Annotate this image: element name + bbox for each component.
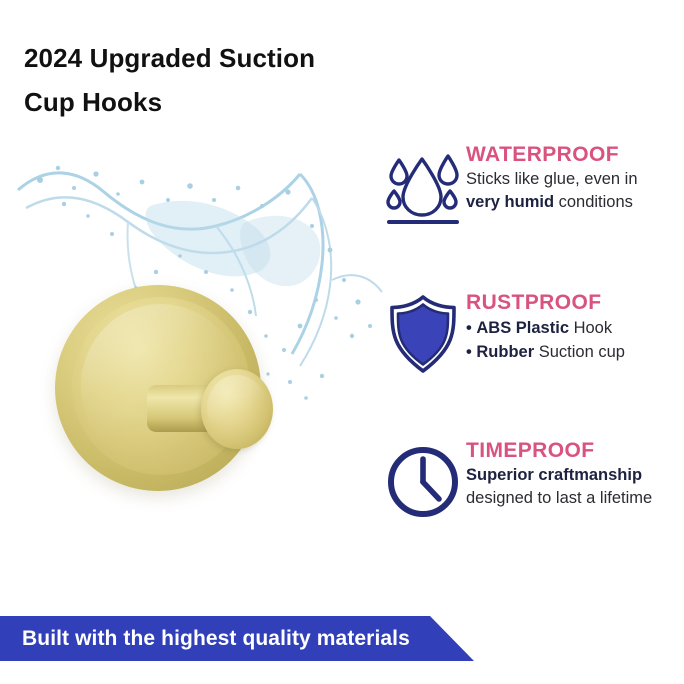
feature-waterproof-text: WATERPROOF Sticks like glue, even in ver… [466,142,684,214]
feature-rustproof: RUSTPROOF • ABS Plastic Hook • Rubber Su… [386,290,684,376]
feature-timeproof-text: TIMEPROOF Superior craftmanship designed… [466,438,684,510]
feature-rustproof-text: RUSTPROOF • ABS Plastic Hook • Rubber Su… [466,290,684,364]
product-photo-area [0,130,392,530]
feature-line: designed to last a lifetime [466,487,684,510]
title-line-1: 2024 Upgraded Suction [24,36,384,80]
feature-heading: TIMEPROOF [466,438,684,463]
feature-timeproof: TIMEPROOF Superior craftmanship designed… [386,438,684,524]
feature-line: Superior craftmanship [466,464,684,487]
bullet-text: Hook [569,319,612,337]
product-infographic: 2024 Upgraded Suction Cup Hooks [0,0,684,684]
feature-line: Sticks like glue, even in [466,168,684,191]
gold-suction-cup-hook-photo [55,285,290,515]
feature-line-text: conditions [554,193,633,211]
bottom-banner: Built with the highest quality materials [0,616,474,661]
shield-icon [386,294,460,374]
feature-line-text: Sticks like glue, even in [466,170,638,188]
hook-knob-cap [201,369,273,449]
feature-heading: WATERPROOF [466,142,684,167]
bullet-text: Suction cup [534,343,625,361]
feature-list: WATERPROOF Sticks like glue, even in ver… [386,142,684,524]
feature-line-bold: very humid [466,193,554,211]
feature-waterproof: WATERPROOF Sticks like glue, even in ver… [386,142,684,228]
bullet-bold: ABS Plastic [476,319,569,337]
banner-text: Built with the highest quality materials [22,627,410,651]
bullet-bold: Rubber [476,343,534,361]
bullet-marker: • [466,319,472,337]
clock-icon [386,442,460,522]
bullet-item: • Rubber Suction cup [466,340,684,364]
water-drop-icon [386,146,460,226]
title-line-2: Cup Hooks [24,80,384,124]
feature-line: very humid conditions [466,191,684,214]
bullet-item: • ABS Plastic Hook [466,316,684,340]
bullet-marker: • [466,343,472,361]
page-title: 2024 Upgraded Suction Cup Hooks [24,36,384,124]
feature-heading: RUSTPROOF [466,290,684,315]
